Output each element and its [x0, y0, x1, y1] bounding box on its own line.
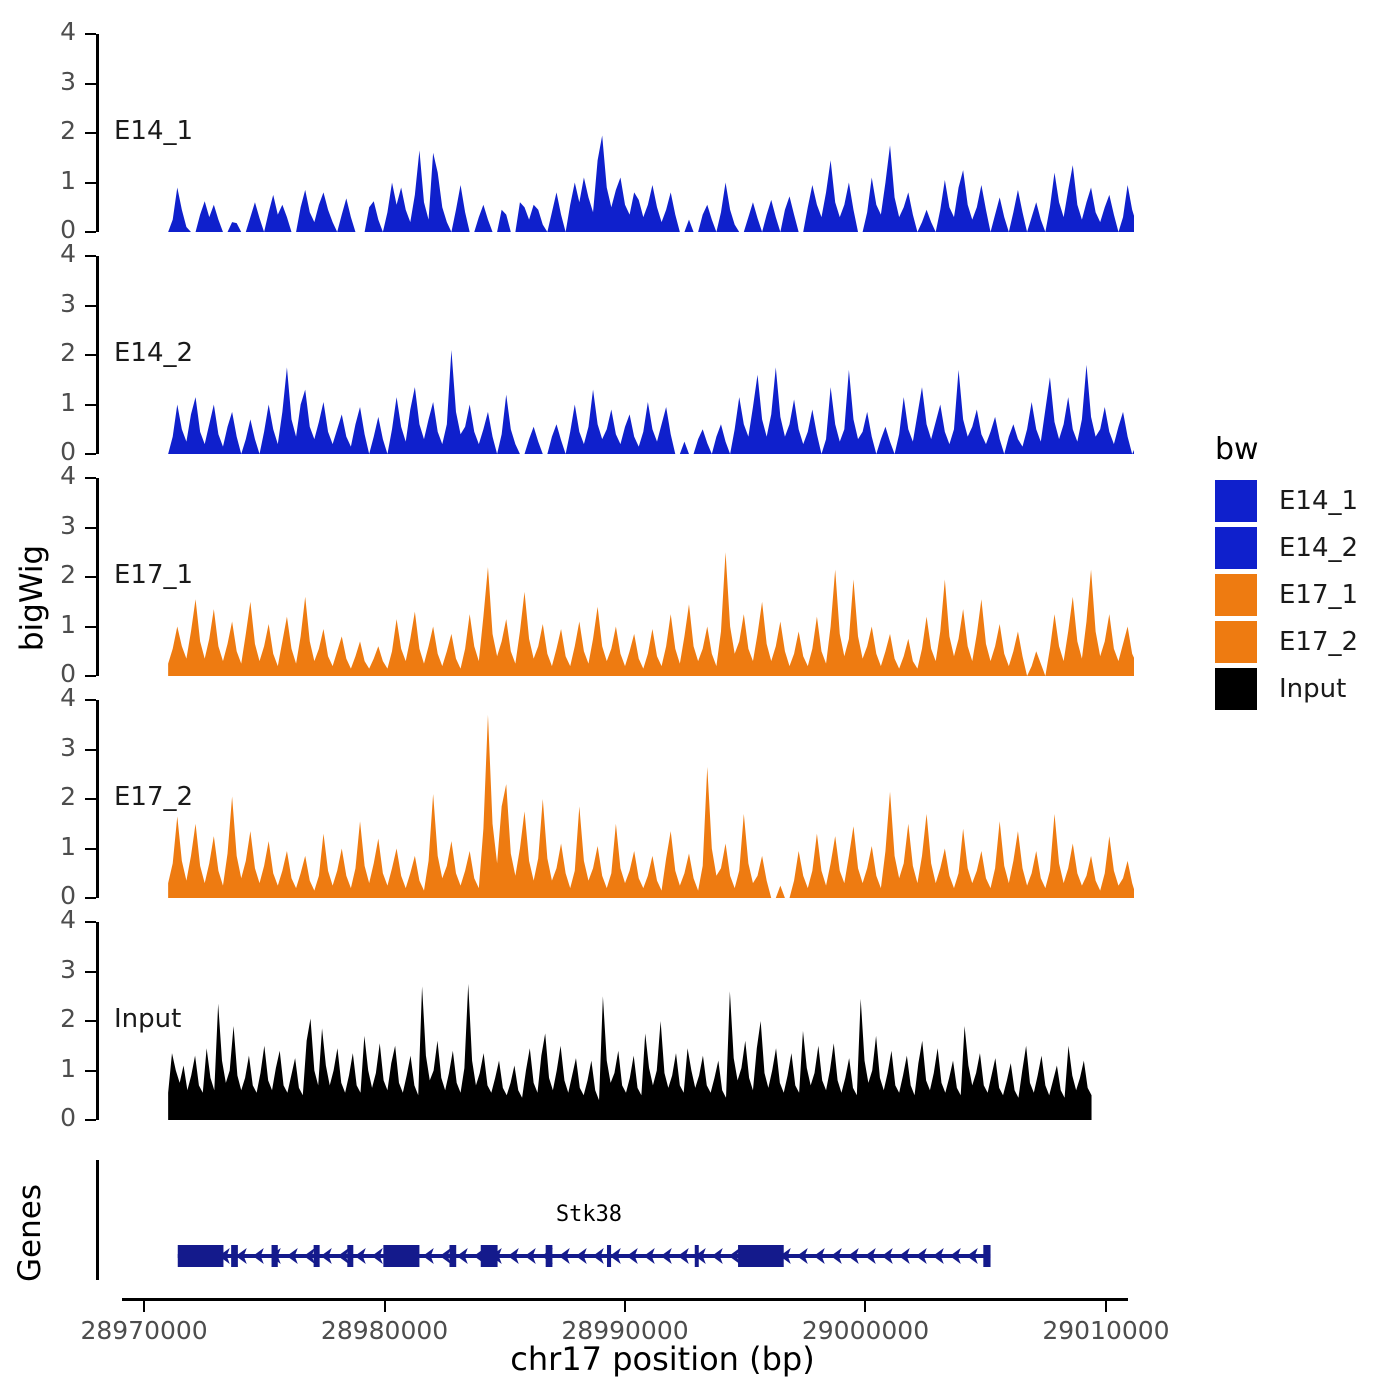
- y-axis-group-label-genes: Genes: [12, 1153, 48, 1313]
- legend-item-e17_2[interactable]: E17_2: [1215, 621, 1358, 663]
- y-tick-mark: [85, 354, 96, 356]
- y-tick-mark: [85, 971, 96, 973]
- y-tick-label: 3: [6, 67, 76, 96]
- y-tick-mark: [85, 83, 96, 85]
- y-tick-mark: [85, 1020, 96, 1022]
- gene-exon: [983, 1245, 990, 1267]
- y-tick-label: 3: [6, 511, 76, 540]
- y-tick-mark: [85, 255, 96, 257]
- gene-exon: [481, 1245, 498, 1267]
- gene-exon: [607, 1245, 611, 1267]
- coverage-track-e17_1: [96, 478, 1134, 676]
- legend: bw E14_1E14_2E17_1E17_2Input: [1215, 432, 1400, 712]
- y-tick-label: 2: [6, 1004, 76, 1033]
- y-tick-label: 3: [6, 955, 76, 984]
- coverage-track-e14_2: [96, 256, 1134, 454]
- y-tick-mark: [85, 453, 96, 455]
- legend-item-e14_1[interactable]: E14_1: [1215, 480, 1358, 522]
- legend-item-label: E17_2: [1279, 627, 1358, 657]
- legend-color-swatch: [1215, 668, 1257, 710]
- y-tick-mark: [85, 798, 96, 800]
- x-axis-label: chr17 position (bp): [195, 1340, 1130, 1378]
- gene-exon: [314, 1245, 320, 1267]
- y-tick-label: 2: [6, 782, 76, 811]
- y-tick-mark: [85, 1070, 96, 1072]
- gene-exon: [449, 1245, 456, 1267]
- y-tick-mark: [85, 675, 96, 677]
- x-tick-mark: [1105, 1301, 1107, 1312]
- y-tick-mark: [85, 699, 96, 701]
- y-tick-label: 1: [6, 388, 76, 417]
- legend-color-swatch: [1215, 527, 1257, 569]
- y-tick-mark: [85, 1119, 96, 1121]
- y-tick-mark: [85, 132, 96, 134]
- gene-exon: [178, 1245, 224, 1267]
- gene-exon: [695, 1245, 699, 1267]
- y-tick-label: 4: [6, 683, 76, 712]
- legend-item-label: Input: [1279, 674, 1346, 704]
- y-tick-label: 1: [6, 166, 76, 195]
- y-tick-label: 1: [6, 610, 76, 639]
- legend-color-swatch: [1215, 480, 1257, 522]
- x-tick-mark: [384, 1301, 386, 1312]
- legend-item-input[interactable]: Input: [1215, 668, 1346, 710]
- y-tick-label: 4: [6, 239, 76, 268]
- y-tick-mark: [85, 749, 96, 751]
- gene-exon: [546, 1245, 553, 1267]
- gene-exon: [272, 1245, 278, 1267]
- x-tick-mark: [143, 1301, 145, 1312]
- y-tick-mark: [85, 576, 96, 578]
- y-tick-mark: [85, 404, 96, 406]
- y-tick-mark: [85, 33, 96, 35]
- coverage-track-input: [96, 922, 1134, 1120]
- y-tick-label: 4: [6, 905, 76, 934]
- y-tick-label: 4: [6, 17, 76, 46]
- y-tick-mark: [85, 305, 96, 307]
- y-tick-mark: [85, 231, 96, 233]
- y-tick-mark: [85, 527, 96, 529]
- y-tick-label: 3: [6, 289, 76, 318]
- y-tick-label: 1: [6, 1054, 76, 1083]
- legend-color-swatch: [1215, 621, 1257, 663]
- gene-model: [96, 1240, 1134, 1280]
- coverage-track-e14_1: [96, 34, 1134, 232]
- y-tick-label: 3: [6, 733, 76, 762]
- legend-title: bw: [1215, 432, 1259, 467]
- legend-item-label: E14_1: [1279, 486, 1358, 516]
- gene-label: Stk38: [489, 1202, 689, 1227]
- legend-item-e14_2[interactable]: E14_2: [1215, 527, 1358, 569]
- y-tick-label: 4: [6, 461, 76, 490]
- figure-root: bigWig Genes 01234E14_101234E14_201234E1…: [0, 0, 1400, 1400]
- y-tick-label: 0: [6, 1103, 76, 1132]
- y-tick-mark: [85, 626, 96, 628]
- y-tick-label: 1: [6, 832, 76, 861]
- y-tick-label: 2: [6, 338, 76, 367]
- gene-exon: [383, 1245, 419, 1267]
- legend-item-e17_1[interactable]: E17_1: [1215, 574, 1358, 616]
- gene-exon: [231, 1245, 238, 1267]
- x-tick-mark: [624, 1301, 626, 1312]
- y-tick-label: 2: [6, 116, 76, 145]
- y-tick-mark: [85, 477, 96, 479]
- coverage-track-e17_2: [96, 700, 1134, 898]
- x-tick-mark: [864, 1301, 866, 1312]
- legend-item-label: E14_2: [1279, 533, 1358, 563]
- y-tick-label: 2: [6, 560, 76, 589]
- y-tick-mark: [85, 897, 96, 899]
- gene-exon: [738, 1245, 784, 1267]
- legend-item-label: E17_1: [1279, 580, 1358, 610]
- y-tick-mark: [85, 848, 96, 850]
- gene-exon: [347, 1245, 353, 1267]
- y-tick-mark: [85, 182, 96, 184]
- legend-color-swatch: [1215, 574, 1257, 616]
- y-tick-mark: [85, 921, 96, 923]
